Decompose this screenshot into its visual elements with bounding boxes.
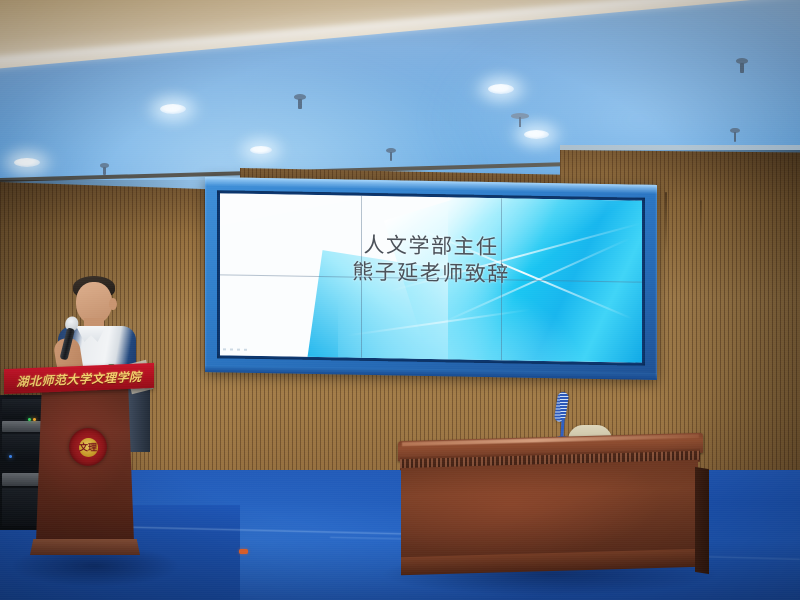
conference-table bbox=[398, 437, 703, 582]
projector-mount-icon-1 bbox=[511, 113, 529, 129]
screen-status-dots bbox=[223, 348, 247, 350]
sprinkler-head-icon-3 bbox=[100, 163, 109, 174]
table-front-panel bbox=[401, 460, 698, 563]
floor-object bbox=[239, 549, 248, 554]
speaker-ear bbox=[109, 298, 117, 310]
downlight-halo bbox=[230, 136, 292, 163]
video-wall-screen[interactable]: 人文学部主任 熊子延老师致辞 bbox=[220, 193, 642, 362]
ceiling-downlight-4 bbox=[488, 84, 514, 94]
sprinkler-stem bbox=[298, 99, 301, 109]
podium-base bbox=[30, 539, 140, 555]
sprinkler-stem bbox=[734, 132, 737, 141]
lectern-podium: 文理 bbox=[24, 384, 146, 560]
sprinkler-head-icon-4 bbox=[736, 58, 748, 72]
sprinkler-stem bbox=[390, 152, 393, 161]
banner-text: 湖北师范大学文理学院 bbox=[4, 367, 154, 390]
ceiling-downlight-1 bbox=[14, 158, 40, 167]
wall-streak-2 bbox=[700, 200, 702, 234]
ceiling-downlight-2 bbox=[160, 104, 186, 114]
sprinkler-stem bbox=[740, 63, 743, 73]
rack-led-3 bbox=[9, 455, 12, 458]
wall-streak-1 bbox=[665, 192, 667, 254]
university-emblem-icon: 文理 bbox=[69, 428, 107, 466]
lecture-hall-photo: 人文学部主任 熊子延老师致辞 bbox=[0, 0, 800, 600]
video-wall-frame: 人文学部主任 熊子延老师致辞 bbox=[205, 177, 657, 380]
table-side-panel bbox=[695, 467, 709, 574]
mount-rod bbox=[519, 117, 522, 127]
ceiling-downlight-3 bbox=[250, 146, 272, 154]
sprinkler-head-icon-1 bbox=[294, 94, 306, 108]
sprinkler-head-icon-2 bbox=[386, 148, 396, 160]
downlight-halo bbox=[137, 92, 210, 126]
ceiling-downlight-5 bbox=[524, 130, 549, 139]
slide-title-text: 人文学部主任 熊子延老师致辞 bbox=[220, 229, 642, 292]
emblem-glyph: 文理 bbox=[69, 441, 107, 454]
sprinkler-head-icon-5 bbox=[730, 128, 740, 141]
sprinkler-stem bbox=[103, 167, 106, 175]
downlight-halo bbox=[465, 72, 538, 106]
